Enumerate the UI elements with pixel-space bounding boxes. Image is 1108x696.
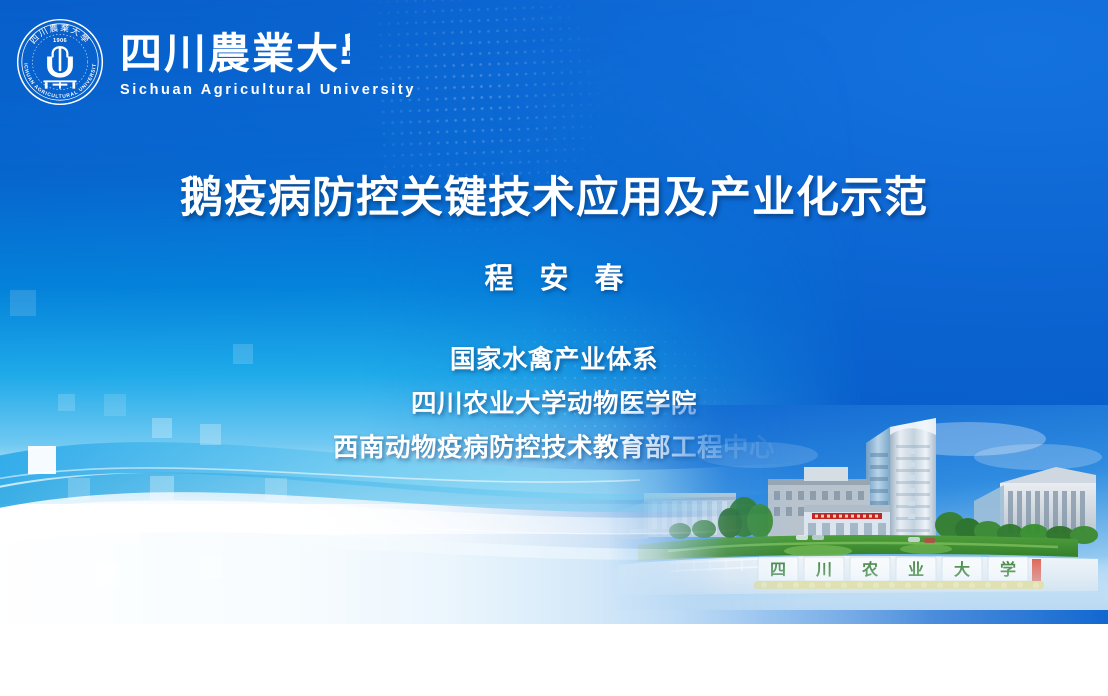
- decorative-square: [96, 562, 120, 586]
- decorative-square: [150, 476, 174, 500]
- decorative-square: [113, 518, 139, 544]
- decorative-square: [265, 478, 287, 500]
- slide-letterbox: [0, 624, 1108, 696]
- decorative-square: [300, 520, 318, 538]
- author-name: 程 安 春: [0, 255, 1108, 297]
- university-seal-icon: 四川農業大學 SICHUAN AGRICULTURAL UNIVERSITY 1…: [14, 16, 106, 108]
- wordmark-chinese: 四川農業大學: [120, 27, 416, 79]
- wordmark: 四川農業大學 Sichuan Agricultural University: [120, 27, 416, 98]
- university-branding: 四川農業大學 SICHUAN AGRICULTURAL UNIVERSITY 1…: [14, 16, 416, 108]
- decorative-square: [10, 530, 28, 548]
- decorative-square: [68, 478, 90, 500]
- title-slide: 四川農業大學 SICHUAN AGRICULTURAL UNIVERSITY 1…: [0, 0, 1108, 624]
- wordmark-english: Sichuan Agricultural University: [120, 82, 416, 98]
- svg-text:1906: 1906: [53, 38, 67, 44]
- affiliation-line: 国家水禽产业体系: [0, 338, 1108, 382]
- campus-photo: 四 川 农 业 大 学: [608, 405, 1108, 610]
- decorative-square: [200, 556, 222, 578]
- page-title: 鹅疫病防控关键技术应用及产业化示范: [0, 163, 1108, 225]
- svg-text:四川農業大學: 四川農業大學: [120, 31, 350, 78]
